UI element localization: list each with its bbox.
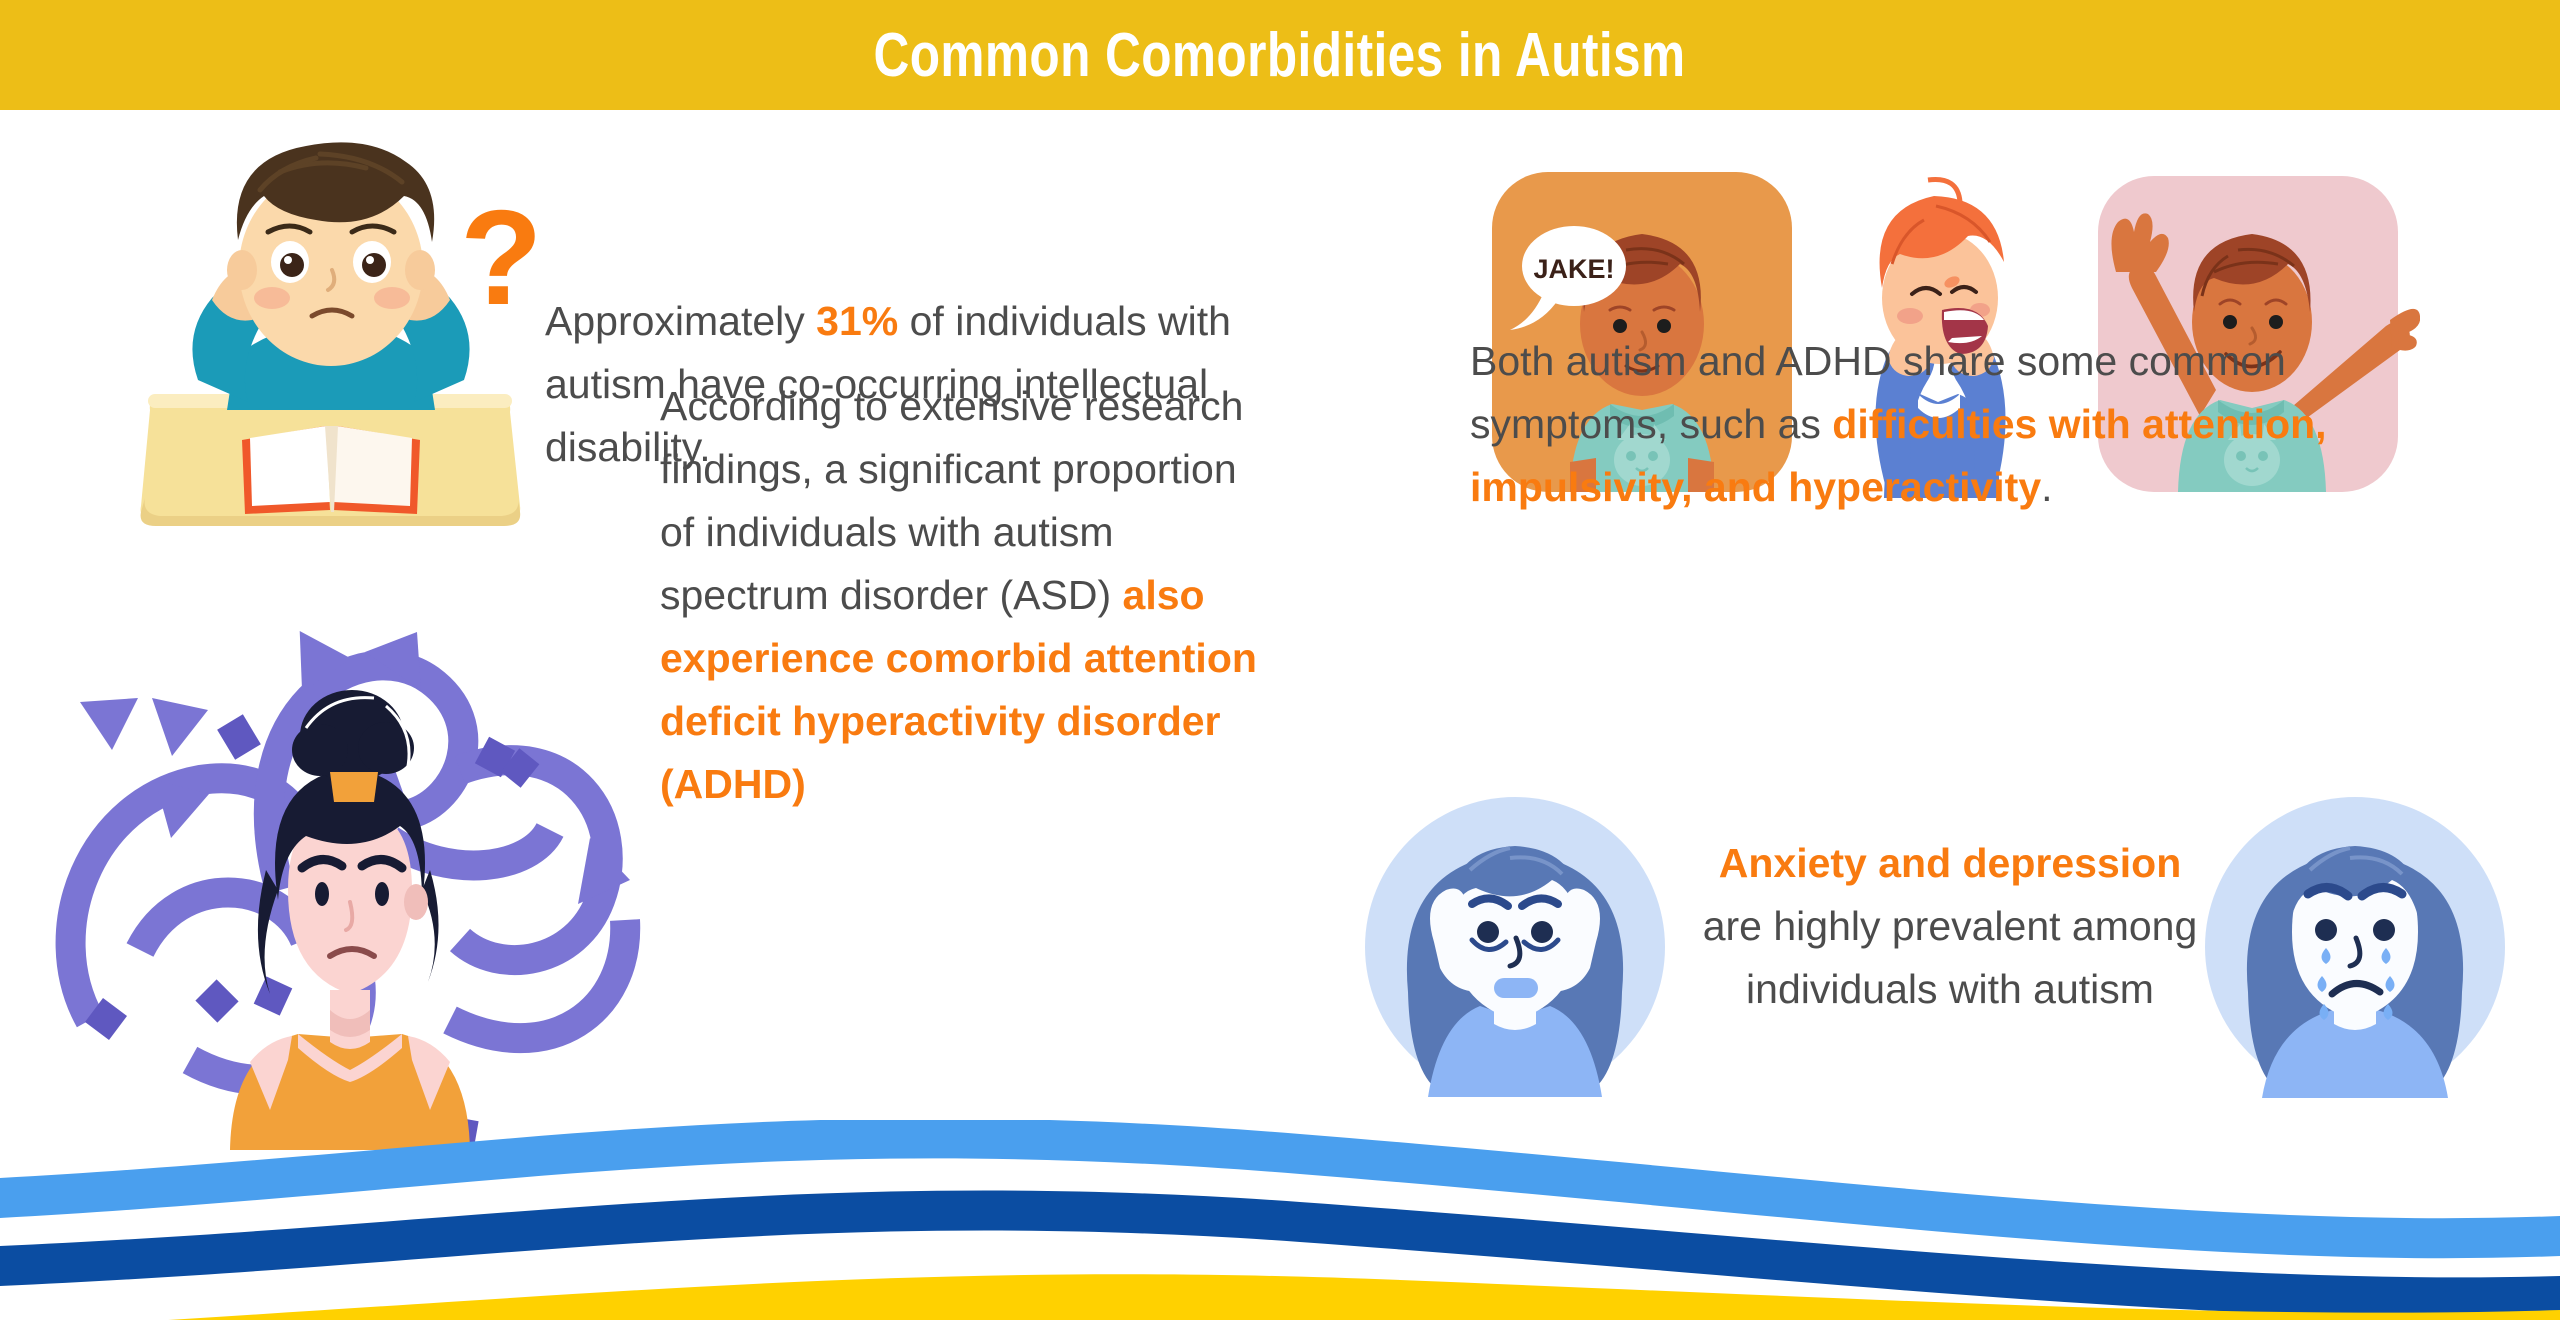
page-title: Common Comorbidities in Autism	[874, 20, 1686, 91]
anxiety-depression-highlight: Anxiety and depression	[1719, 840, 2182, 886]
speech-bubble-text: JAKE!	[1533, 254, 1614, 284]
crying-person-avatar	[2200, 792, 2510, 1102]
header-band: Common Comorbidities in Autism	[0, 0, 2560, 110]
anxiety-depression-paragraph: Anxiety and depression are highly preval…	[1700, 832, 2200, 1021]
stat-31-percent: 31%	[816, 298, 898, 344]
para1-pre: Approximately	[545, 298, 816, 344]
anxiety-depression-body: are highly prevalent among individuals w…	[1703, 903, 2198, 1012]
shared-symptoms-paragraph: Both autism and ADHD share some common s…	[1470, 330, 2480, 519]
bottom-wave-decoration	[0, 1120, 2560, 1320]
overwhelmed-woman-with-tangled-arrows-illustration	[30, 590, 680, 1190]
para3-post: .	[2041, 464, 2052, 510]
adhd-research-paragraph: According to extensive research findings…	[660, 375, 1270, 816]
anxious-person-avatar	[1360, 792, 1670, 1102]
question-mark-icon: ?	[460, 180, 542, 335]
